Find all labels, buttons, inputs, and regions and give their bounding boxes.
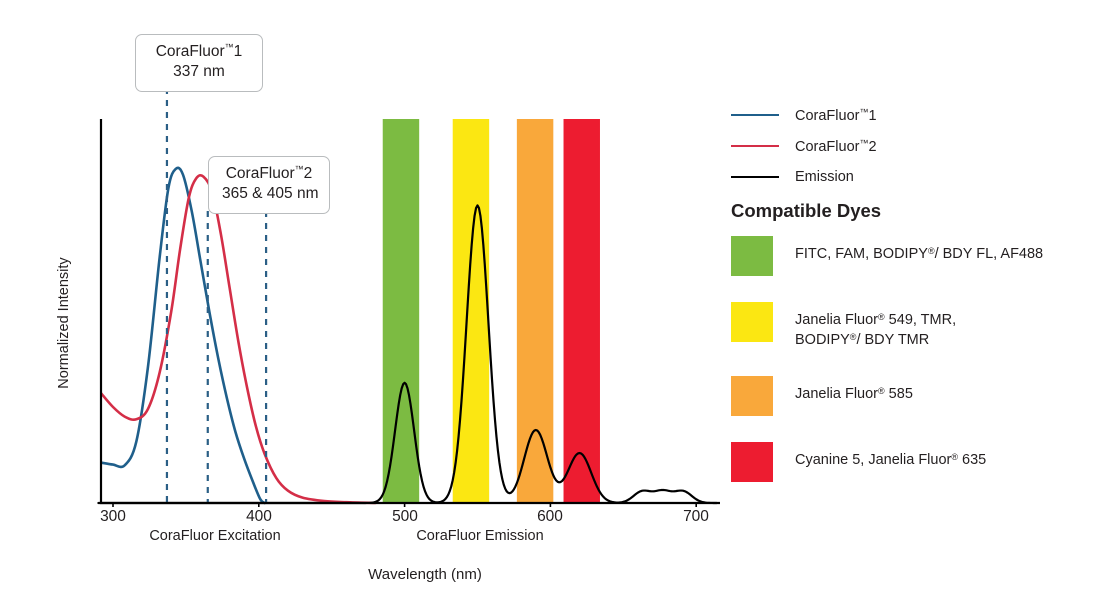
callout-cf1-number: 1 (234, 43, 243, 60)
region-label-excitation: CoraFluor Excitation (125, 528, 305, 544)
dye-color-swatch-green (731, 236, 773, 276)
dye-color-swatch-red (731, 442, 773, 482)
dye-item-red: Cyanine 5, Janelia Fluor® 635 (731, 442, 1103, 482)
series-legend: CoraFluor™1 CoraFluor™2 Emission (731, 106, 1101, 199)
dye-color-swatch-yellow (731, 302, 773, 342)
y-axis-title: Normalized Intensity (56, 223, 72, 423)
x-tick-400: 400 (229, 508, 289, 526)
red-band (564, 119, 600, 503)
legend-item-corafluor-2: CoraFluor™2 (731, 137, 1101, 155)
legend-label-corafluor-2: CoraFluor™2 (795, 138, 877, 155)
callout-cf2-wavelength: 365 & 405 nm (222, 184, 316, 204)
fluorescence-spectra-figure: CoraFluor™1 337 nm CoraFluor™2 365 & 405… (0, 0, 1110, 612)
curve-corafluor-1 (101, 168, 264, 503)
x-tick-700: 700 (666, 508, 726, 526)
registered-icon: ® (928, 246, 935, 256)
callout-cf1-name: CoraFluor (156, 43, 225, 60)
orange-band (517, 119, 553, 503)
legend-label-emission: Emission (795, 169, 854, 185)
callout-cf1-line1: CoraFluor™1 (149, 42, 249, 62)
legend-line-swatch-corafluor-2 (731, 145, 779, 147)
callout-cf2-line1: CoraFluor™2 (222, 164, 316, 184)
callout-cf2-number: 2 (304, 165, 313, 182)
dye-item-green: FITC, FAM, BODIPY®/ BDY FL, AF488 (731, 236, 1103, 276)
green-band (383, 119, 419, 503)
legend-item-corafluor-1: CoraFluor™1 (731, 106, 1101, 124)
callout-cf2-name: CoraFluor (226, 165, 295, 182)
compatible-dyes-list: FITC, FAM, BODIPY®/ BDY FL, AF488 Janeli… (731, 236, 1103, 508)
dye-label-orange: Janelia Fluor® 585 (795, 376, 913, 404)
dye-label-red: Cyanine 5, Janelia Fluor® 635 (795, 442, 986, 470)
callout-corafluor-2: CoraFluor™2 365 & 405 nm (208, 156, 330, 214)
dye-label-yellow: Janelia Fluor® 549, TMR, BODIPY®/ BDY TM… (795, 302, 956, 350)
region-label-emission: CoraFluor Emission (395, 528, 565, 544)
x-tick-300: 300 (83, 508, 143, 526)
legend-line-swatch-corafluor-1 (731, 114, 779, 116)
dye-item-orange: Janelia Fluor® 585 (731, 376, 1103, 416)
dye-label-green: FITC, FAM, BODIPY®/ BDY FL, AF488 (795, 236, 1043, 264)
compatible-dyes-title: Compatible Dyes (731, 200, 881, 222)
trademark-icon: ™ (225, 42, 234, 52)
x-axis-title: Wavelength (nm) (300, 566, 550, 583)
trademark-icon: ™ (295, 164, 304, 174)
registered-icon: ® (878, 386, 885, 396)
x-tick-500: 500 (375, 508, 435, 526)
dye-item-yellow: Janelia Fluor® 549, TMR, BODIPY®/ BDY TM… (731, 302, 1103, 350)
legend-item-emission: Emission (731, 168, 1101, 186)
registered-icon: ® (878, 312, 885, 322)
legend-line-swatch-emission (731, 176, 779, 178)
x-tick-600: 600 (520, 508, 580, 526)
legend-label-corafluor-1: CoraFluor™1 (795, 107, 877, 124)
callout-cf1-wavelength: 337 nm (149, 62, 249, 82)
callout-corafluor-1: CoraFluor™1 337 nm (135, 34, 263, 92)
curve-corafluor-2 (101, 175, 375, 503)
dye-color-swatch-orange (731, 376, 773, 416)
